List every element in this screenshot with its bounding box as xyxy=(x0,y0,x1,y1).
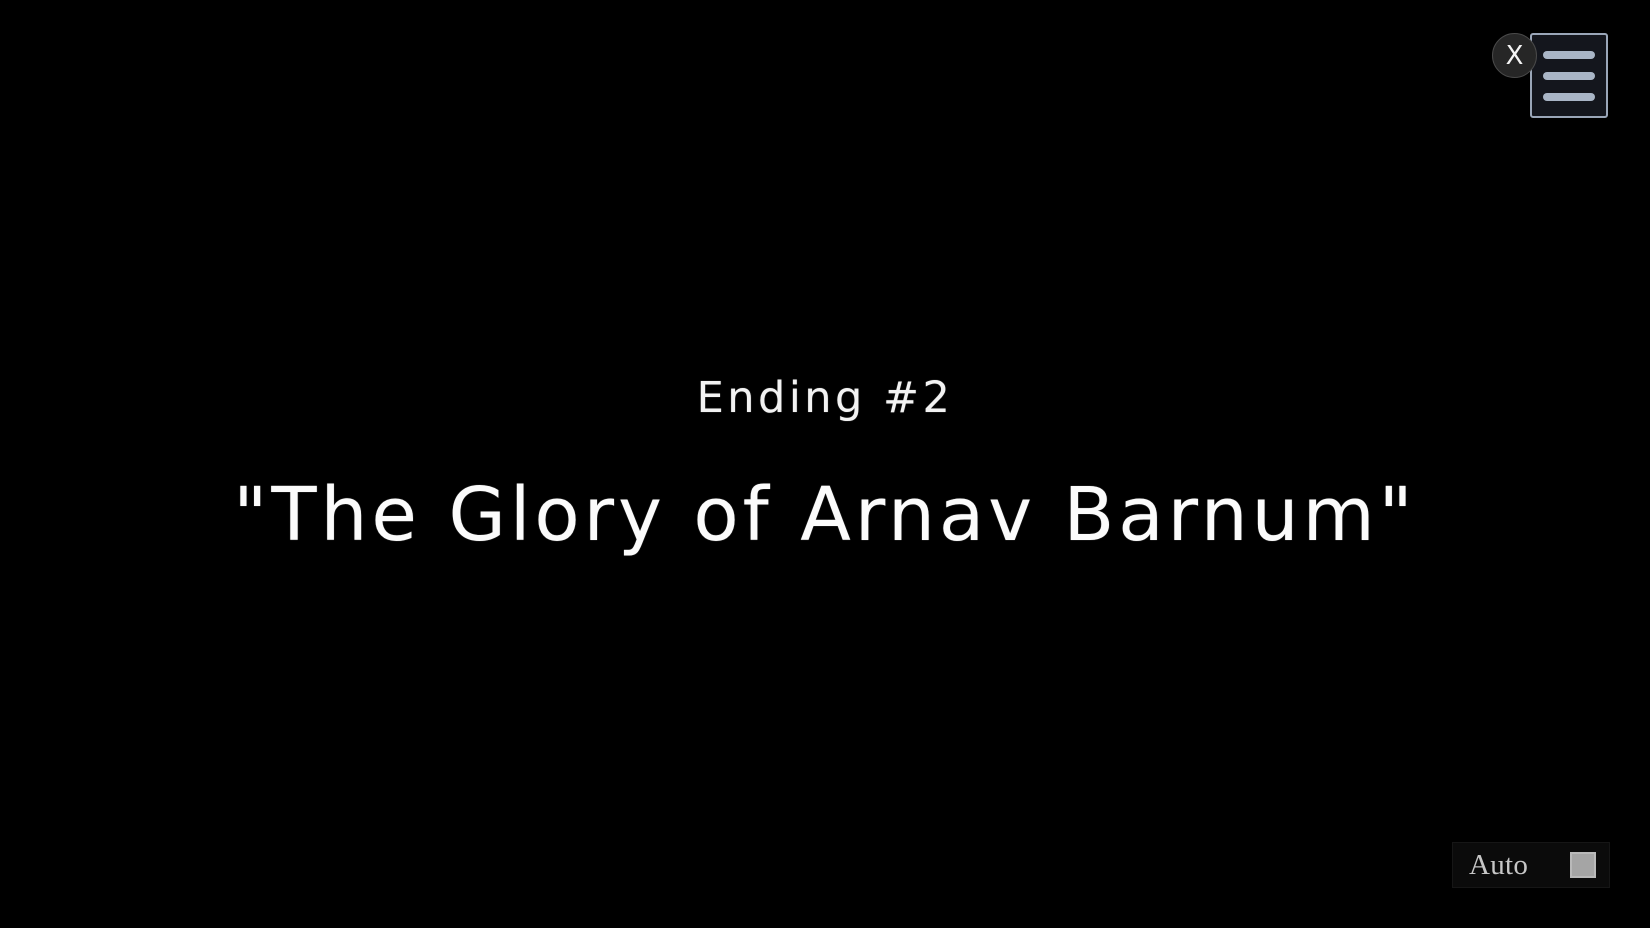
auto-advance-toggle[interactable]: Auto xyxy=(1452,842,1610,888)
ending-text-block: Ending #2 "The Glory of Arnav Barnum" xyxy=(0,0,1650,928)
ending-title: "The Glory of Arnav Barnum" xyxy=(233,478,1416,552)
hamburger-menu-icon-bar-3 xyxy=(1543,93,1595,101)
close-icon-glyph: X xyxy=(1506,43,1524,69)
hamburger-menu-icon-bar-2 xyxy=(1543,72,1595,80)
ending-number-label: Ending #2 xyxy=(697,377,954,420)
menu-cluster: X xyxy=(1488,33,1608,123)
close-icon[interactable]: X xyxy=(1492,33,1537,78)
game-ending-screen: Ending #2 "The Glory of Arnav Barnum" X … xyxy=(0,0,1650,928)
hamburger-menu-button[interactable] xyxy=(1530,33,1608,118)
hamburger-menu-icon-bar-1 xyxy=(1543,51,1595,59)
auto-advance-checkbox[interactable] xyxy=(1570,852,1596,878)
auto-advance-label: Auto xyxy=(1469,851,1528,880)
